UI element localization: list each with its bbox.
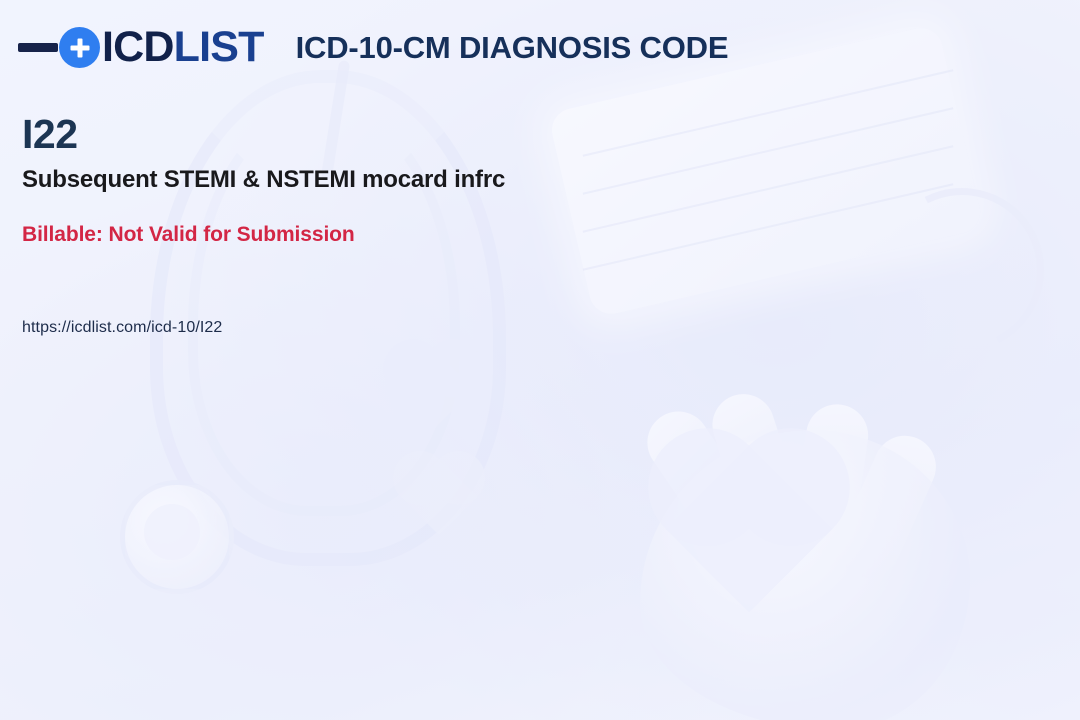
mask-pleat-line [583, 183, 954, 270]
mask-pleat-line [583, 69, 954, 156]
logo-text-secondary: LIST [174, 26, 264, 69]
hand-finger [828, 426, 946, 588]
heart-icon [392, 348, 474, 430]
mask-pleat-line [583, 107, 954, 194]
background-veil [0, 0, 1080, 720]
background-artwork [0, 0, 1080, 720]
diagnosis-code: I22 [22, 114, 78, 155]
page-title: ICD-10-CM DIAGNOSIS CODE [296, 32, 729, 63]
logo-text-primary: ICD [102, 26, 174, 69]
background-wash [0, 0, 1080, 720]
stethoscope-stem-icon [321, 60, 351, 180]
hand-finger [635, 399, 770, 558]
horizontal-dash-icon [18, 43, 58, 52]
stethoscope-bell-core-icon [144, 504, 200, 560]
hand-finger [790, 400, 872, 557]
plus-circle-icon [59, 27, 100, 68]
mask-ear-strap-icon [859, 167, 1066, 374]
stethoscope-bell-icon [120, 480, 234, 594]
hand-finger [704, 386, 809, 548]
source-url[interactable]: https://icdlist.com/icd-10/I22 [22, 318, 222, 337]
mask-pleat-line [583, 145, 954, 232]
icd-code-card: ICD LIST ICD-10-CM DIAGNOSIS CODE I22 Su… [0, 0, 1080, 720]
icdlist-logo[interactable]: ICD LIST [18, 26, 264, 69]
gloved-hand-icon [640, 430, 970, 720]
heart-icon [401, 459, 477, 535]
page-header: ICD LIST ICD-10-CM DIAGNOSIS CODE [18, 26, 728, 69]
heart-icon [666, 446, 833, 613]
billable-status-badge: Billable: Not Valid for Submission [22, 223, 355, 247]
diagnosis-description: Subsequent STEMI & NSTEMI mocard infrc [22, 166, 505, 194]
